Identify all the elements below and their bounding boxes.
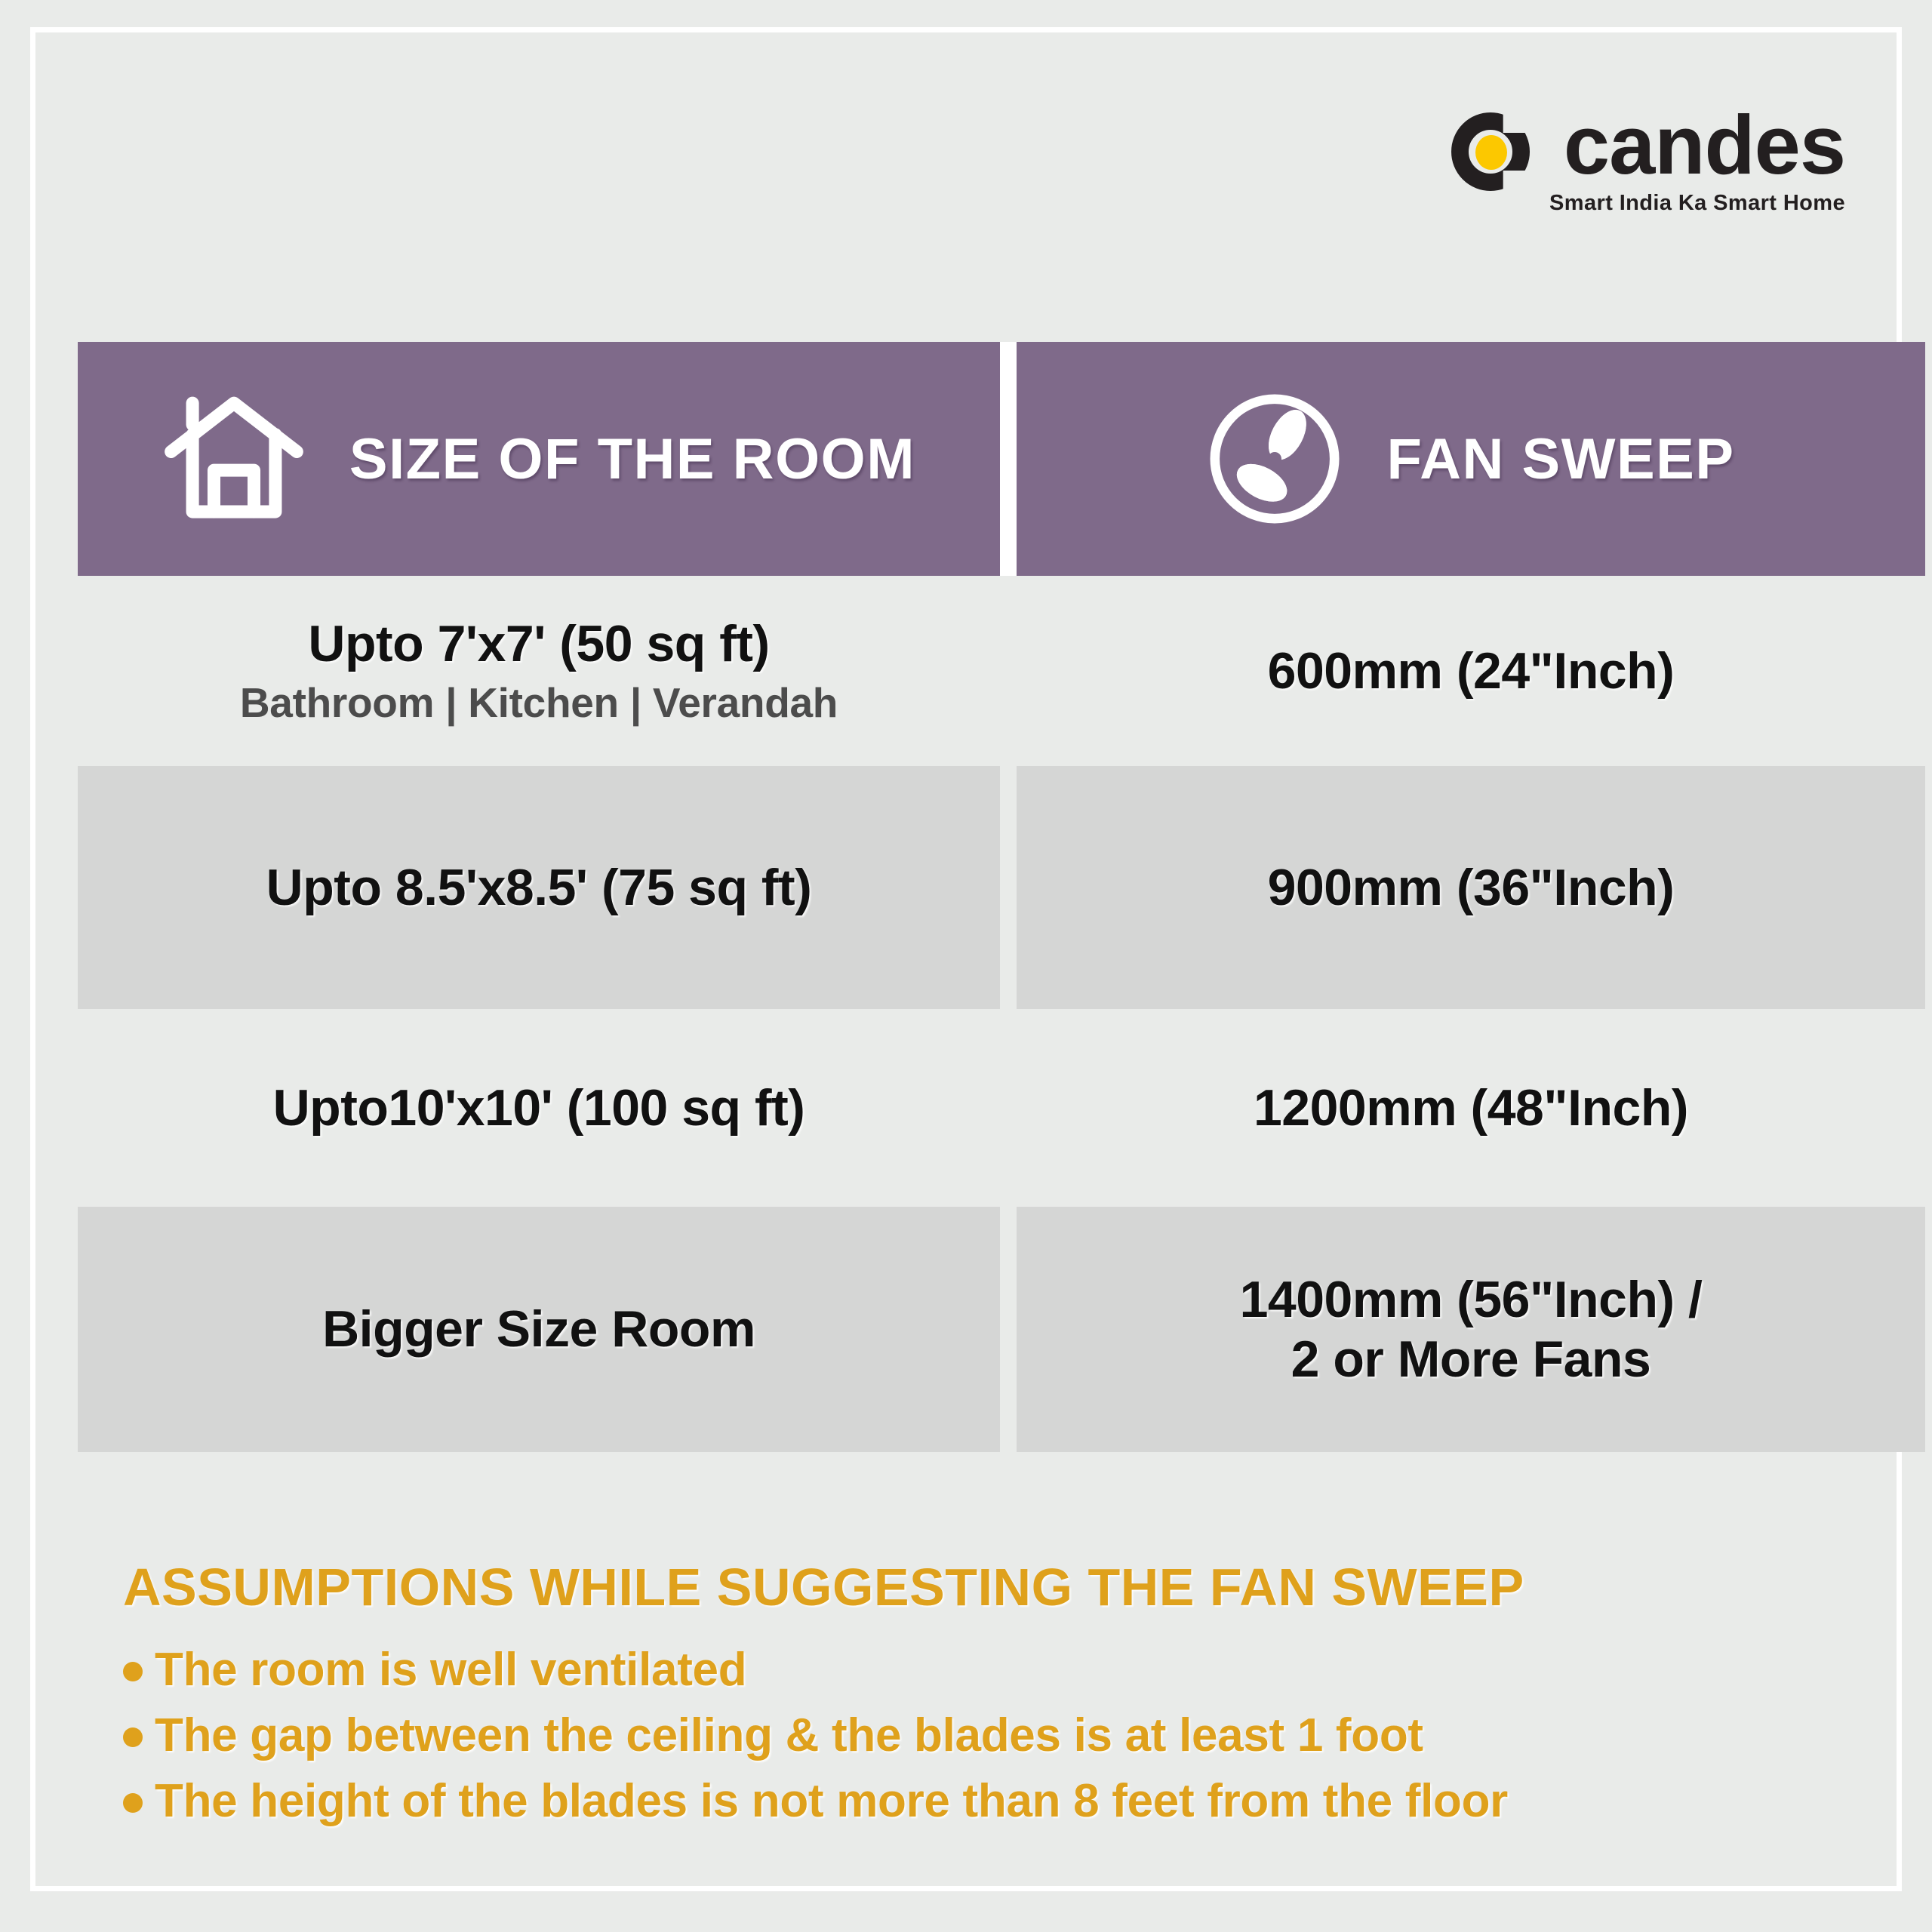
assumption-item: The gap between the ceiling & the blades… [123,1709,1859,1762]
fan-icon [1207,391,1343,527]
assumption-item: The height of the blades is not more tha… [123,1774,1859,1828]
row-4-sweep-cell: 1400mm (56"Inch) / 2 or More Fans [1017,1207,1925,1452]
row-1-room-examples: Bathroom | Kitchen | Verandah [240,678,838,728]
row-2-room-cell: Upto 8.5'x8.5' (75 sq ft) [78,766,1000,1009]
table-row: Bigger Size Room 1400mm (56"Inch) / 2 or… [78,1207,1925,1452]
bullet-dot-icon [123,1793,143,1813]
row-2-fan-sweep: 900mm (36"Inch) [1268,858,1675,918]
header-label-room: SIZE OF THE ROOM [349,426,915,492]
column-divider [1000,576,1017,766]
assumption-text: The height of the blades is not more tha… [155,1774,1508,1828]
row-1-fan-sweep: 600mm (24"Inch) [1268,641,1675,701]
assumption-text: The gap between the ceiling & the blades… [155,1709,1423,1762]
logo-yellow-dot-icon [1475,135,1507,170]
assumption-item: The room is well ventilated [123,1643,1859,1697]
row-2-sweep-cell: 900mm (36"Inch) [1017,766,1925,1009]
brand-tagline: Smart India Ka Smart Home [1549,191,1845,216]
poster-frame: candes Smart India Ka Smart Home [30,27,1902,1891]
brand-name: candes [1564,106,1845,184]
assumptions-title: ASSUMPTIONS WHILE SUGGESTING THE FAN SWE… [123,1557,1859,1617]
table-row: Upto 7'x7' (50 sq ft) Bathroom | Kitchen… [78,576,1925,766]
assumptions-section: ASSUMPTIONS WHILE SUGGESTING THE FAN SWE… [123,1557,1859,1840]
row-1-sweep-cell: 600mm (24"Inch) [1017,576,1925,766]
row-4-room-size: Bigger Size Room [322,1300,755,1359]
table-row: Upto 8.5'x8.5' (75 sq ft) 900mm (36"Inch… [78,766,1925,1009]
bullet-dot-icon [123,1662,143,1681]
house-icon [162,392,306,526]
row-3-room-cell: Upto10'x10' (100 sq ft) [78,1009,1000,1207]
column-divider [1000,1009,1017,1207]
column-divider [1000,342,1017,576]
row-2-room-size: Upto 8.5'x8.5' (75 sq ft) [266,858,812,918]
brand-logo: candes Smart India Ka Smart Home [1451,106,1845,216]
poster-canvas: candes Smart India Ka Smart Home [0,0,1932,1932]
assumption-text: The room is well ventilated [155,1643,746,1697]
brand-wordmark-group: candes Smart India Ka Smart Home [1549,106,1845,216]
row-1-room-size: Upto 7'x7' (50 sq ft) [308,614,769,674]
column-divider [1000,766,1017,1009]
header-cell-sweep: FAN SWEEP [1017,342,1925,576]
row-1-room-cell: Upto 7'x7' (50 sq ft) Bathroom | Kitchen… [78,576,1000,766]
row-4-fan-sweep-line2: 2 or More Fans [1291,1330,1651,1389]
fan-sweep-table: SIZE OF THE ROOM [78,342,1925,1452]
header-cell-room: SIZE OF THE ROOM [78,342,1000,576]
candes-c-mark-icon [1451,112,1530,191]
row-3-sweep-cell: 1200mm (48"Inch) [1017,1009,1925,1207]
header-label-sweep: FAN SWEEP [1386,426,1734,492]
table-row: Upto10'x10' (100 sq ft) 1200mm (48"Inch) [78,1009,1925,1207]
row-3-room-size: Upto10'x10' (100 sq ft) [273,1078,805,1138]
row-4-room-cell: Bigger Size Room [78,1207,1000,1452]
column-divider [1000,1207,1017,1452]
row-4-fan-sweep-line1: 1400mm (56"Inch) / [1240,1270,1703,1330]
bullet-dot-icon [123,1727,143,1747]
row-3-fan-sweep: 1200mm (48"Inch) [1254,1078,1688,1138]
table-header-row: SIZE OF THE ROOM [78,342,1925,576]
